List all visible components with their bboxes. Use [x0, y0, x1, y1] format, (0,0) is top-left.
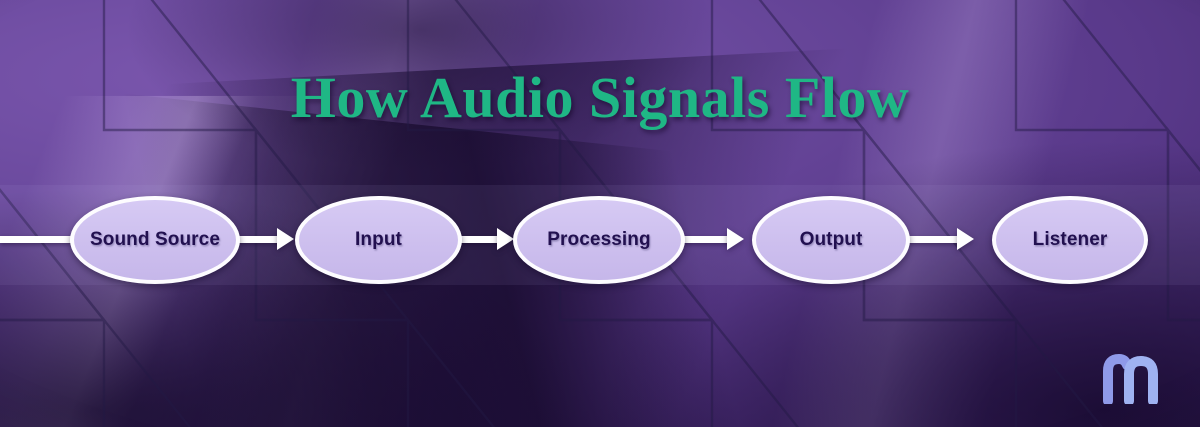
- flow-node-label: Sound Source: [90, 229, 220, 251]
- connector-source-to-input: [238, 236, 280, 243]
- flow-node-input[interactable]: Input: [295, 196, 462, 284]
- flow-node-listener[interactable]: Listener: [992, 196, 1148, 284]
- m-monogram-logo: [1100, 354, 1162, 404]
- flow-node-label: Processing: [547, 229, 650, 251]
- connector-input-to-processing: [460, 236, 500, 243]
- infographic-canvas: How Audio Signals Flow Sound Source Inpu…: [0, 0, 1200, 427]
- arrowhead-processing-to-output: [727, 228, 744, 250]
- flow-diagram: Sound Source Input Processing Output Lis…: [0, 0, 1200, 427]
- arrowhead-source-to-input: [277, 228, 294, 250]
- flow-node-label: Output: [800, 229, 863, 251]
- flow-node-label: Input: [355, 229, 402, 251]
- arrowhead-input-to-processing: [497, 228, 514, 250]
- flow-node-sound-source[interactable]: Sound Source: [70, 196, 240, 284]
- flow-node-label: Listener: [1033, 229, 1108, 251]
- connector-processing-to-output: [683, 236, 730, 243]
- flow-node-processing[interactable]: Processing: [513, 196, 685, 284]
- connector-entry: [0, 236, 74, 243]
- flow-node-output[interactable]: Output: [752, 196, 910, 284]
- connector-output-to-listener: [908, 236, 960, 243]
- arrowhead-output-to-listener: [957, 228, 974, 250]
